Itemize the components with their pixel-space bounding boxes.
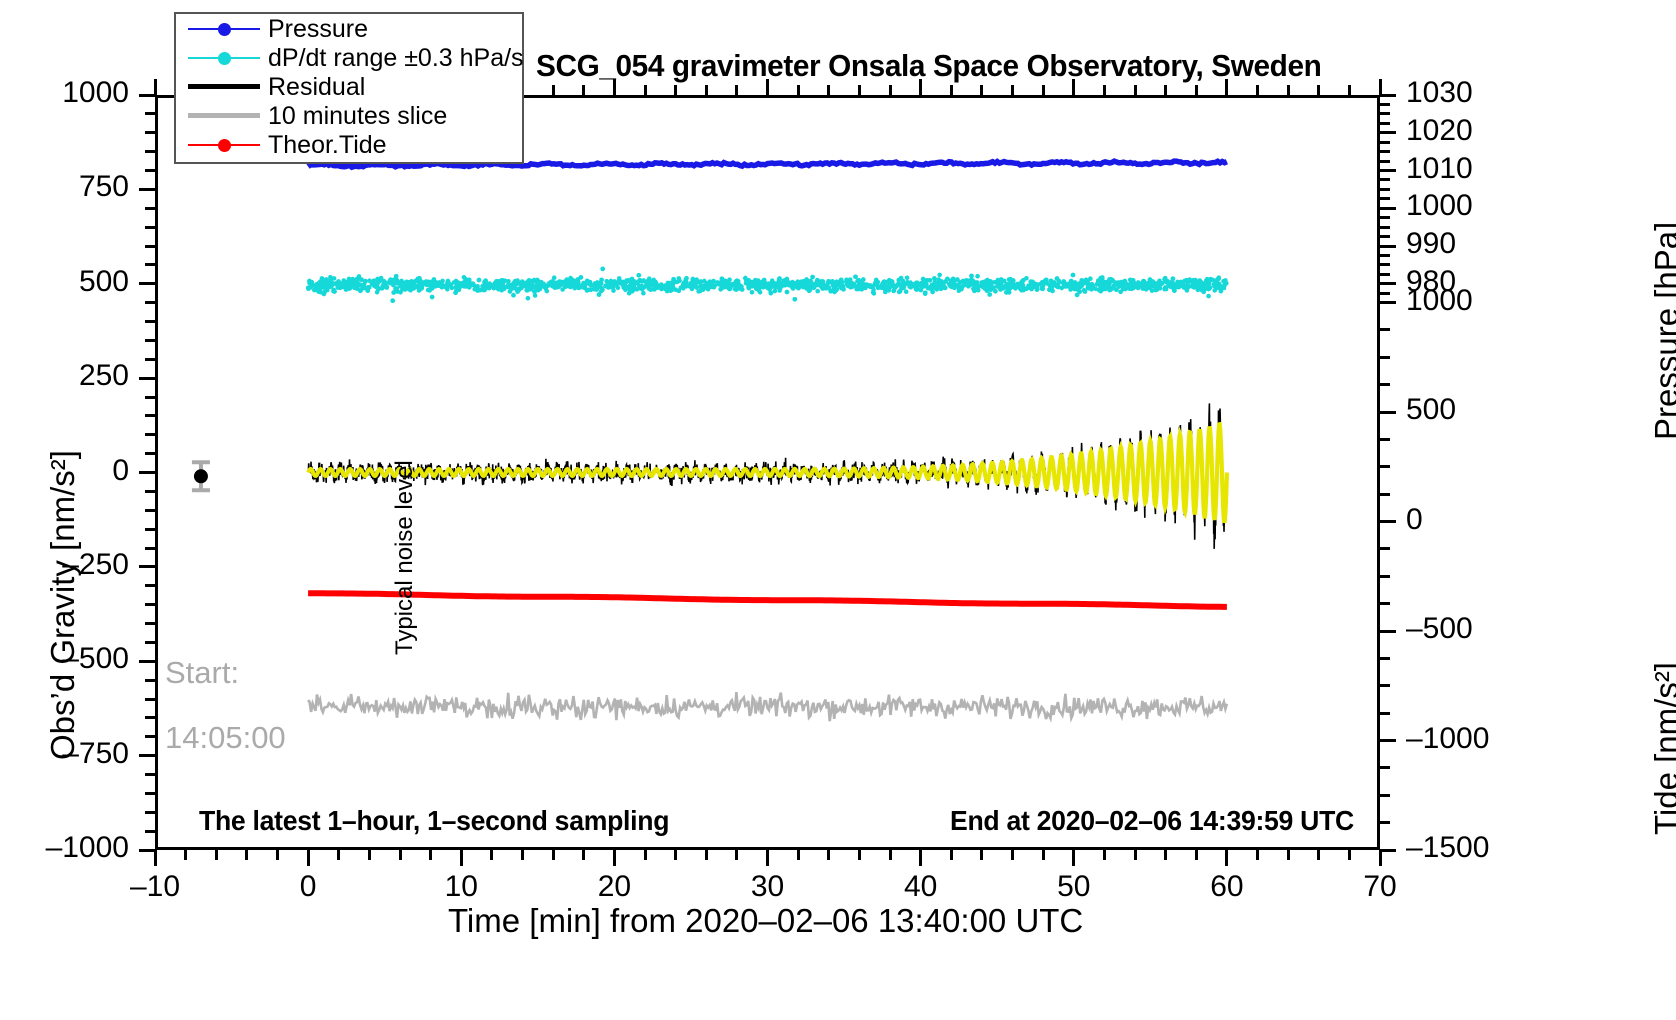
x-tick-label: –10 [95,870,215,904]
legend-label: Theor.Tide [268,131,387,160]
y-minor-tick-tide [1380,328,1390,331]
y-minor-tick-tide [1380,712,1390,715]
y-minor-tick-tide [1380,766,1390,769]
x-minor-tick [490,850,493,860]
y-minor-tick-left [145,735,155,738]
y-minor-tick-pressure [1380,216,1390,219]
x-tick-top [919,79,922,95]
y-tick-pressure [1380,207,1396,210]
y-minor-tick-left [145,528,155,531]
end-note: End at 2020–02–06 14:39:59 UTC [950,805,1354,837]
x-minor-tick-top [950,85,953,95]
x-minor-tick [245,850,248,860]
y-minor-tick-left [145,679,155,682]
y-minor-tick-left [145,622,155,625]
x-tick [307,850,310,866]
x-minor-tick [1134,850,1137,860]
legend-item-residual[interactable]: Residual [176,73,522,101]
x-tick [1379,850,1382,866]
x-minor-tick [797,850,800,860]
x-minor-tick [1317,850,1320,860]
y-minor-tick-pressure [1380,160,1390,163]
x-minor-tick [950,850,953,860]
y-minor-tick-left [145,263,155,266]
y-tick-label-pressure: 1020 [1406,114,1473,148]
chart-title: SCG_054 gravimeter Onsala Space Observat… [536,48,1321,84]
y-tick-label-pressure: 990 [1406,227,1456,261]
x-tick [1225,850,1228,866]
legend-item-10-minutes-slice[interactable]: 10 minutes slice [176,102,522,130]
y-minor-tick-pressure [1380,235,1390,238]
x-tick-top [154,79,157,95]
x-minor-tick [429,850,432,860]
y-minor-tick-pressure [1380,178,1390,181]
y-axis-label-left: Obs’d Gravity [nm/s²] [44,450,82,760]
y-minor-tick-left [145,245,155,248]
x-tick-label: 40 [861,870,981,904]
y-minor-tick-left [145,414,155,417]
y-tick-left [139,565,155,568]
x-minor-tick-top [1317,85,1320,95]
y-tick-label-tide: 1000 [1406,284,1473,318]
plot-frame [155,95,1380,850]
x-minor-tick-top [1134,85,1137,95]
x-minor-tick-top [1195,85,1198,95]
y-minor-tick-left [145,358,155,361]
y-tick-label-tide: 0 [1406,503,1423,537]
x-minor-tick [980,850,983,860]
y-tick-left [139,754,155,757]
y-tick-label-left: –250 [0,548,129,582]
y-tick-tide [1380,739,1396,742]
x-minor-tick [399,850,402,860]
x-minor-tick [1164,850,1167,860]
y-minor-tick-pressure [1380,150,1390,153]
sampling-note: The latest 1–hour, 1–second sampling [199,805,669,837]
y-tick-label-tide: –1500 [1406,831,1489,865]
x-minor-tick [705,850,708,860]
legend-label: Residual [268,73,365,102]
y-tick-label-left: 250 [0,359,129,393]
y-tick-label-pressure: 1000 [1406,189,1473,223]
y-minor-tick-tide [1380,602,1390,605]
y-tick-pressure [1380,282,1396,285]
legend-label: dP/dt range ±0.3 hPa/s [268,44,524,73]
start-label: Start: [165,655,239,691]
x-minor-tick [1348,850,1351,860]
x-minor-tick [1103,850,1106,860]
x-minor-tick-top [705,85,708,95]
x-minor-tick-top [1348,85,1351,95]
y-tick-left [139,188,155,191]
y-minor-tick-left [145,792,155,795]
y-minor-tick-left [145,547,155,550]
x-minor-tick-top [980,85,983,95]
x-tick-label: 30 [708,870,828,904]
y-minor-tick-left [145,226,155,229]
y-tick-left [139,471,155,474]
x-minor-tick-top [1256,85,1259,95]
y-minor-tick-left [145,490,155,493]
x-minor-tick [521,850,524,860]
y-minor-tick-pressure [1380,292,1390,295]
legend-swatch-icon [176,131,268,159]
y-minor-tick-tide [1380,684,1390,687]
y-tick-tide [1380,849,1396,852]
y-tick-label-left: 500 [0,265,129,299]
y-minor-tick-pressure [1380,141,1390,144]
y-tick-left [139,282,155,285]
x-tick-label: 50 [1014,870,1134,904]
y-minor-tick-pressure [1380,254,1390,257]
typical-noise-level-label: Typical noise level [391,460,419,655]
y-minor-tick-left [145,339,155,342]
y-tick-left [139,660,155,663]
legend-marker-icon [218,52,231,65]
x-tick [613,850,616,866]
y-minor-tick-left [145,112,155,115]
y-minor-tick-pressure [1380,188,1390,191]
x-minor-tick-top [858,85,861,95]
x-tick [154,850,157,866]
x-tick-top [1072,79,1075,95]
y-minor-tick-left [145,301,155,304]
x-minor-tick-top [674,85,677,95]
y-tick-pressure [1380,245,1396,248]
y-minor-tick-left [145,509,155,512]
y-tick-label-tide: –500 [1406,612,1473,646]
y-minor-tick-pressure [1380,122,1390,125]
y-minor-tick-tide [1380,493,1390,496]
y-tick-label-left: –1000 [0,831,129,865]
x-minor-tick-top [1164,85,1167,95]
legend-swatch-icon [176,44,268,72]
y-minor-tick-tide [1380,438,1390,441]
y-tick-tide [1380,520,1396,523]
legend-marker-icon [218,23,231,36]
y-minor-tick-tide [1380,657,1390,660]
y-minor-tick-left [145,150,155,153]
y-axis-label-pressure: Pressure [hPa] [1648,222,1676,440]
x-minor-tick [276,850,279,860]
y-tick-label-tide: –1000 [1406,722,1489,756]
x-minor-tick [337,850,340,860]
chart-page: Obs’d Gravity [nm/s²] Pressure [hPa] Tid… [0,0,1676,1020]
x-minor-tick [858,850,861,860]
x-tick-label: 10 [401,870,521,904]
y-minor-tick-left [145,452,155,455]
y-minor-tick-tide [1380,575,1390,578]
x-minor-tick [552,850,555,860]
legend-item-theor-tide[interactable]: Theor.Tide [176,131,522,159]
y-minor-tick-tide [1380,794,1390,797]
legend-label: 10 minutes slice [268,102,447,131]
y-minor-tick-left [145,716,155,719]
x-minor-tick [184,850,187,860]
y-minor-tick-pressure [1380,112,1390,115]
x-minor-tick [735,850,738,860]
y-minor-tick-left [145,433,155,436]
x-minor-tick [215,850,218,860]
x-minor-tick-top [644,85,647,95]
y-minor-tick-left [145,830,155,833]
y-minor-tick-pressure [1380,197,1390,200]
y-minor-tick-left [145,698,155,701]
x-minor-tick [1195,850,1198,860]
x-tick-top [613,79,616,95]
y-tick-label-left: 0 [0,454,129,488]
y-minor-tick-left [145,396,155,399]
y-tick-label-left: –750 [0,737,129,771]
x-tick [766,850,769,866]
y-tick-tide [1380,301,1396,304]
legend-swatch-icon [176,102,268,130]
y-tick-pressure [1380,131,1396,134]
x-tick [1072,850,1075,866]
x-minor-tick-top [889,85,892,95]
y-tick-label-pressure: 1030 [1406,76,1473,110]
y-tick-left [139,377,155,380]
x-tick [919,850,922,866]
x-minor-tick [582,850,585,860]
y-tick-label-tide: 500 [1406,393,1456,427]
x-tick-label: 60 [1167,870,1287,904]
y-tick-label-left: 750 [0,170,129,204]
start-time: 14:05:00 [165,720,286,756]
x-minor-tick-top [1103,85,1106,95]
y-minor-tick-tide [1380,821,1390,824]
x-minor-tick [1256,850,1259,860]
y-minor-tick-left [145,320,155,323]
x-minor-tick [1287,850,1290,860]
legend-marker-icon [218,139,231,152]
y-minor-tick-tide [1380,383,1390,386]
y-minor-tick-left [145,131,155,134]
legend-label: Pressure [268,15,368,44]
x-minor-tick-top [552,85,555,95]
y-tick-tide [1380,630,1396,633]
x-tick-label: 70 [1320,870,1440,904]
y-minor-tick-pressure [1380,273,1390,276]
x-axis-label: Time [min] from 2020–02–06 13:40:00 UTC [448,902,1083,940]
y-tick-label-pressure: 1010 [1406,152,1473,186]
x-minor-tick-top [735,85,738,95]
y-minor-tick-left [145,641,155,644]
x-minor-tick [368,850,371,860]
y-minor-tick-left [145,603,155,606]
x-tick-top [1225,79,1228,95]
y-minor-tick-tide [1380,547,1390,550]
x-minor-tick [827,850,830,860]
x-tick-top [1379,79,1382,95]
y-minor-tick-pressure [1380,103,1390,106]
x-minor-tick-top [797,85,800,95]
y-minor-tick-left [145,773,155,776]
x-tick-label: 0 [248,870,368,904]
y-tick-pressure [1380,169,1396,172]
x-minor-tick [644,850,647,860]
y-tick-label-left: 1000 [0,76,129,110]
x-tick-top [766,79,769,95]
x-minor-tick [1011,850,1014,860]
y-axis-label-tide: Tide [nm/s²] [1648,662,1676,835]
x-minor-tick-top [827,85,830,95]
y-minor-tick-left [145,811,155,814]
x-minor-tick [889,850,892,860]
x-minor-tick-top [1011,85,1014,95]
y-minor-tick-left [145,584,155,587]
y-tick-pressure [1380,94,1396,97]
x-minor-tick [674,850,677,860]
x-tick [460,850,463,866]
chart-legend[interactable]: PressuredP/dt range ±0.3 hPa/sResidual10… [174,12,524,164]
x-minor-tick-top [1042,85,1045,95]
x-minor-tick [1042,850,1045,860]
x-minor-tick-top [1287,85,1290,95]
y-tick-label-left: –500 [0,642,129,676]
y-minor-tick-tide [1380,356,1390,359]
y-minor-tick-pressure [1380,226,1390,229]
legend-swatch-icon [176,73,268,101]
legend-item-dp-dt-range-0-3-hpa-s[interactable]: dP/dt range ±0.3 hPa/s [176,44,522,72]
y-minor-tick-tide [1380,465,1390,468]
y-minor-tick-pressure [1380,263,1390,266]
y-tick-tide [1380,411,1396,414]
plot-area: Typical noise level Start: 14:05:00 The … [155,95,1380,850]
legend-item-pressure[interactable]: Pressure [176,15,522,43]
legend-swatch-icon [176,15,268,43]
y-minor-tick-left [145,207,155,210]
y-minor-tick-left [145,169,155,172]
x-tick-label: 20 [554,870,674,904]
x-minor-tick-top [582,85,585,95]
